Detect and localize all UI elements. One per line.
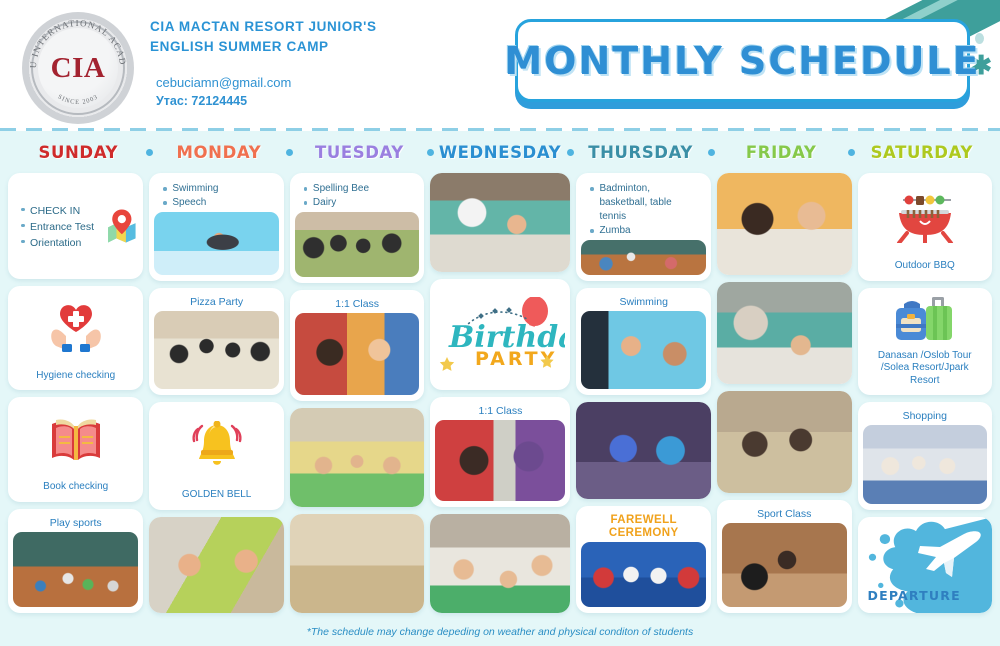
cell-friday-4[interactable]: Sport Class (717, 500, 852, 613)
book-icon-slot (13, 402, 138, 477)
indoor-basketball-photo (581, 240, 706, 275)
bell-icon-slot (154, 407, 279, 485)
cell-friday-1[interactable] (717, 173, 852, 275)
list-item: Speech (162, 196, 273, 210)
contact-email[interactable]: cebuciamn@gmail.com (156, 74, 291, 92)
day-header-saturday: SATURDAY (851, 143, 992, 162)
badge-label: MONTHLY SCHEDULE (504, 39, 980, 83)
column-sunday: CHECK IN Entrance Test Orientation (8, 173, 143, 613)
day-label-tuesday: TUESDAY (315, 143, 404, 162)
cell-caption: Danasan /Oslob Tour /Solea Resort/Jpark … (863, 346, 988, 390)
day-label-sunday: SUNDAY (39, 143, 119, 162)
day-label-monday: MONDAY (177, 143, 262, 162)
table-tennis-photo (722, 523, 847, 607)
day-header-friday: FRIDAY (711, 143, 852, 162)
cell-sunday-1[interactable]: CHECK IN Entrance Test Orientation (8, 173, 143, 279)
cell-saturday-1[interactable]: Outdoor BBQ (858, 173, 993, 281)
cell-monday-3[interactable]: GOLDEN BELL (149, 402, 284, 510)
schedule-grid: CHECK IN Entrance Test Orientation (0, 173, 1000, 613)
thursday-bullet-list: Badminton, basketball, table tennis Zumb… (581, 178, 706, 240)
logo-seal: CEBU INTERNATIONAL ACADEMY SINCE 2003 CI… (22, 12, 134, 124)
tuesday-bullet-list: Spelling Bee Dairy (295, 178, 420, 212)
luggage-icon (888, 294, 962, 344)
cell-caption: Book checking (13, 477, 138, 496)
day-header-thursday: THURSDAY (570, 143, 711, 162)
cell-friday-2[interactable] (717, 282, 852, 384)
day-label-wednesday: WEDNESDAY (439, 143, 561, 162)
day-label-saturday: SATURDAY (871, 143, 973, 162)
day-header-wednesday: WEDNESDAY (430, 143, 571, 162)
cell-wednesday-2[interactable]: Birthday PARTY (430, 279, 570, 389)
cell-tuesday-2[interactable]: 1:1 Class (290, 290, 425, 400)
cell-caption: Outdoor BBQ (863, 256, 988, 275)
classroom-kids-photo (290, 408, 425, 507)
pizza-party-photo (154, 311, 279, 390)
group-students-photo (295, 212, 420, 277)
checkin-bullet-list: CHECK IN Entrance Test Orientation (12, 199, 104, 253)
cell-title: Swimming (581, 293, 706, 311)
svg-text:CEBU INTERNATIONAL ACADEMY: CEBU INTERNATIONAL ACADEMY (22, 12, 128, 69)
students-activity-photo (717, 391, 852, 493)
tutor-student-photo (717, 173, 852, 275)
list-item: Spelling Bee (303, 182, 414, 196)
cell-tuesday-1[interactable]: Spelling Bee Dairy (290, 173, 425, 283)
column-monday: Swimming Speech Pizza Party (149, 173, 284, 613)
list-item: Badminton, basketball, table tennis (589, 182, 700, 224)
day-header-row: SUNDAY MONDAY TUESDAY WEDNESDAY THURSDAY… (0, 131, 1000, 173)
column-thursday: Badminton, basketball, table tennis Zumb… (576, 173, 711, 613)
day-header-tuesday: TUESDAY (289, 143, 430, 162)
list-item: Swimming (162, 182, 273, 196)
hands-heart-icon (46, 302, 106, 354)
column-saturday: Outdoor BBQ (858, 173, 993, 613)
cell-friday-3[interactable] (717, 391, 852, 493)
mall-shopping-photo (863, 425, 988, 504)
column-wednesday: Birthday PARTY 1:1 Class (430, 173, 570, 613)
cell-title: 1:1 Class (435, 402, 565, 420)
cell-caption: GOLDEN BELL (154, 485, 279, 504)
golden-bell-icon (189, 421, 245, 471)
cell-title: 1:1 Class (295, 295, 420, 313)
luggage-icon-slot (863, 293, 988, 346)
logo-arc-text: CEBU INTERNATIONAL ACADEMY SINCE 2003 (22, 12, 134, 124)
cell-saturday-2[interactable]: Danasan /Oslob Tour /Solea Resort/Jpark … (858, 288, 993, 396)
day-label-thursday: THURSDAY (588, 143, 693, 162)
cell-thursday-1[interactable]: Badminton, basketball, table tennis Zumb… (576, 173, 711, 281)
day-header-monday: MONDAY (149, 143, 290, 162)
cia-logo: CEBU INTERNATIONAL ACADEMY SINCE 2003 CI… (22, 12, 134, 124)
bbq-grill-icon (889, 191, 961, 243)
birthday-graphic-svg: Birthday PARTY (435, 297, 565, 371)
column-friday: Sport Class (717, 173, 852, 613)
reading-class-photo (430, 173, 570, 272)
list-item: Zumba (589, 224, 700, 238)
cell-title: Sport Class (722, 505, 847, 523)
cell-monday-2[interactable]: Pizza Party (149, 288, 284, 396)
airplane-icon (910, 527, 984, 581)
cell-sunday-3[interactable]: Book checking (8, 397, 143, 502)
cell-wednesday-3[interactable]: 1:1 Class (430, 397, 570, 507)
title-line-1: CIA MACTAN RESORT JUNIOR'S (150, 17, 377, 37)
map-pin-icon (104, 200, 140, 252)
title-line-2: ENGLISH SUMMER CAMP (150, 37, 377, 57)
cell-thursday-4[interactable]: FAREWELL CEREMONY (576, 506, 711, 614)
two-students-smiling-photo (149, 517, 284, 614)
schedule-board: SUNDAY MONDAY TUESDAY WEDNESDAY THURSDAY… (0, 131, 1000, 646)
svg-text:SINCE 2003: SINCE 2003 (56, 93, 99, 106)
list-item: Dairy (303, 196, 414, 210)
hygiene-icon-slot (13, 291, 138, 366)
teacher-boy-photo (295, 313, 420, 394)
contact-phone: Утас: 72124445 (156, 92, 291, 110)
boy-swimming-photo (154, 212, 279, 275)
cell-monday-1[interactable]: Swimming Speech (149, 173, 284, 281)
round-table-class-photo (430, 514, 570, 613)
page-header: ✱ CEBU INTERNATIONAL ACADEMY SINCE 2003 … (0, 0, 1000, 131)
departure-graphic: DEPARTURE (858, 517, 993, 614)
birthday-party-graphic: Birthday PARTY (435, 284, 565, 383)
pool-kids-photo (581, 311, 706, 390)
cell-wednesday-1[interactable] (430, 173, 570, 272)
cell-caption: Hygiene checking (13, 366, 138, 385)
party-word: PARTY (475, 348, 557, 370)
one-on-one-class-photo (435, 420, 565, 501)
day-label-friday: FRIDAY (746, 143, 817, 162)
classroom-group-photo (717, 282, 852, 384)
cell-title: Pizza Party (154, 293, 279, 311)
open-book-icon (48, 416, 104, 464)
list-item: CHECK IN (20, 203, 98, 219)
column-tuesday: Spelling Bee Dairy 1:1 Class (290, 173, 425, 613)
departure-label: DEPARTURE (868, 588, 961, 603)
cell-tuesday-3[interactable] (290, 408, 425, 507)
cell-sunday-4[interactable]: Play sports (8, 509, 143, 614)
cell-thursday-2[interactable]: Swimming (576, 288, 711, 396)
monday-bullet-list: Swimming Speech (154, 178, 279, 212)
footnote: *The schedule may change depeding on wea… (0, 626, 1000, 638)
cell-saturday-4[interactable]: DEPARTURE (858, 517, 993, 614)
gym-mat-kids-photo (576, 402, 711, 499)
farewell-stage-photo (581, 542, 706, 608)
cell-title: Shopping (863, 407, 988, 425)
bbq-icon-slot (863, 178, 988, 256)
cell-monday-4[interactable] (149, 517, 284, 614)
cell-wednesday-4[interactable] (430, 514, 570, 613)
basketball-gym-photo (13, 532, 138, 608)
cell-saturday-3[interactable]: Shopping (858, 402, 993, 510)
contact-info: cebuciamn@gmail.com Утас: 72124445 (156, 74, 291, 110)
cell-title: FAREWELL CEREMONY (581, 511, 706, 542)
cell-title: Play sports (13, 514, 138, 532)
list-item: Entrance Test (20, 219, 98, 235)
list-item: Orientation (20, 235, 98, 251)
cell-tuesday-4[interactable] (290, 514, 425, 613)
day-header-sunday: SUNDAY (8, 143, 149, 162)
monthly-schedule-badge: MONTHLY SCHEDULE (515, 19, 970, 102)
jenga-blocks-photo (290, 514, 425, 613)
cell-sunday-2[interactable]: Hygiene checking (8, 286, 143, 391)
cell-thursday-3[interactable] (576, 402, 711, 499)
organization-title: CIA MACTAN RESORT JUNIOR'S ENGLISH SUMME… (150, 17, 377, 57)
